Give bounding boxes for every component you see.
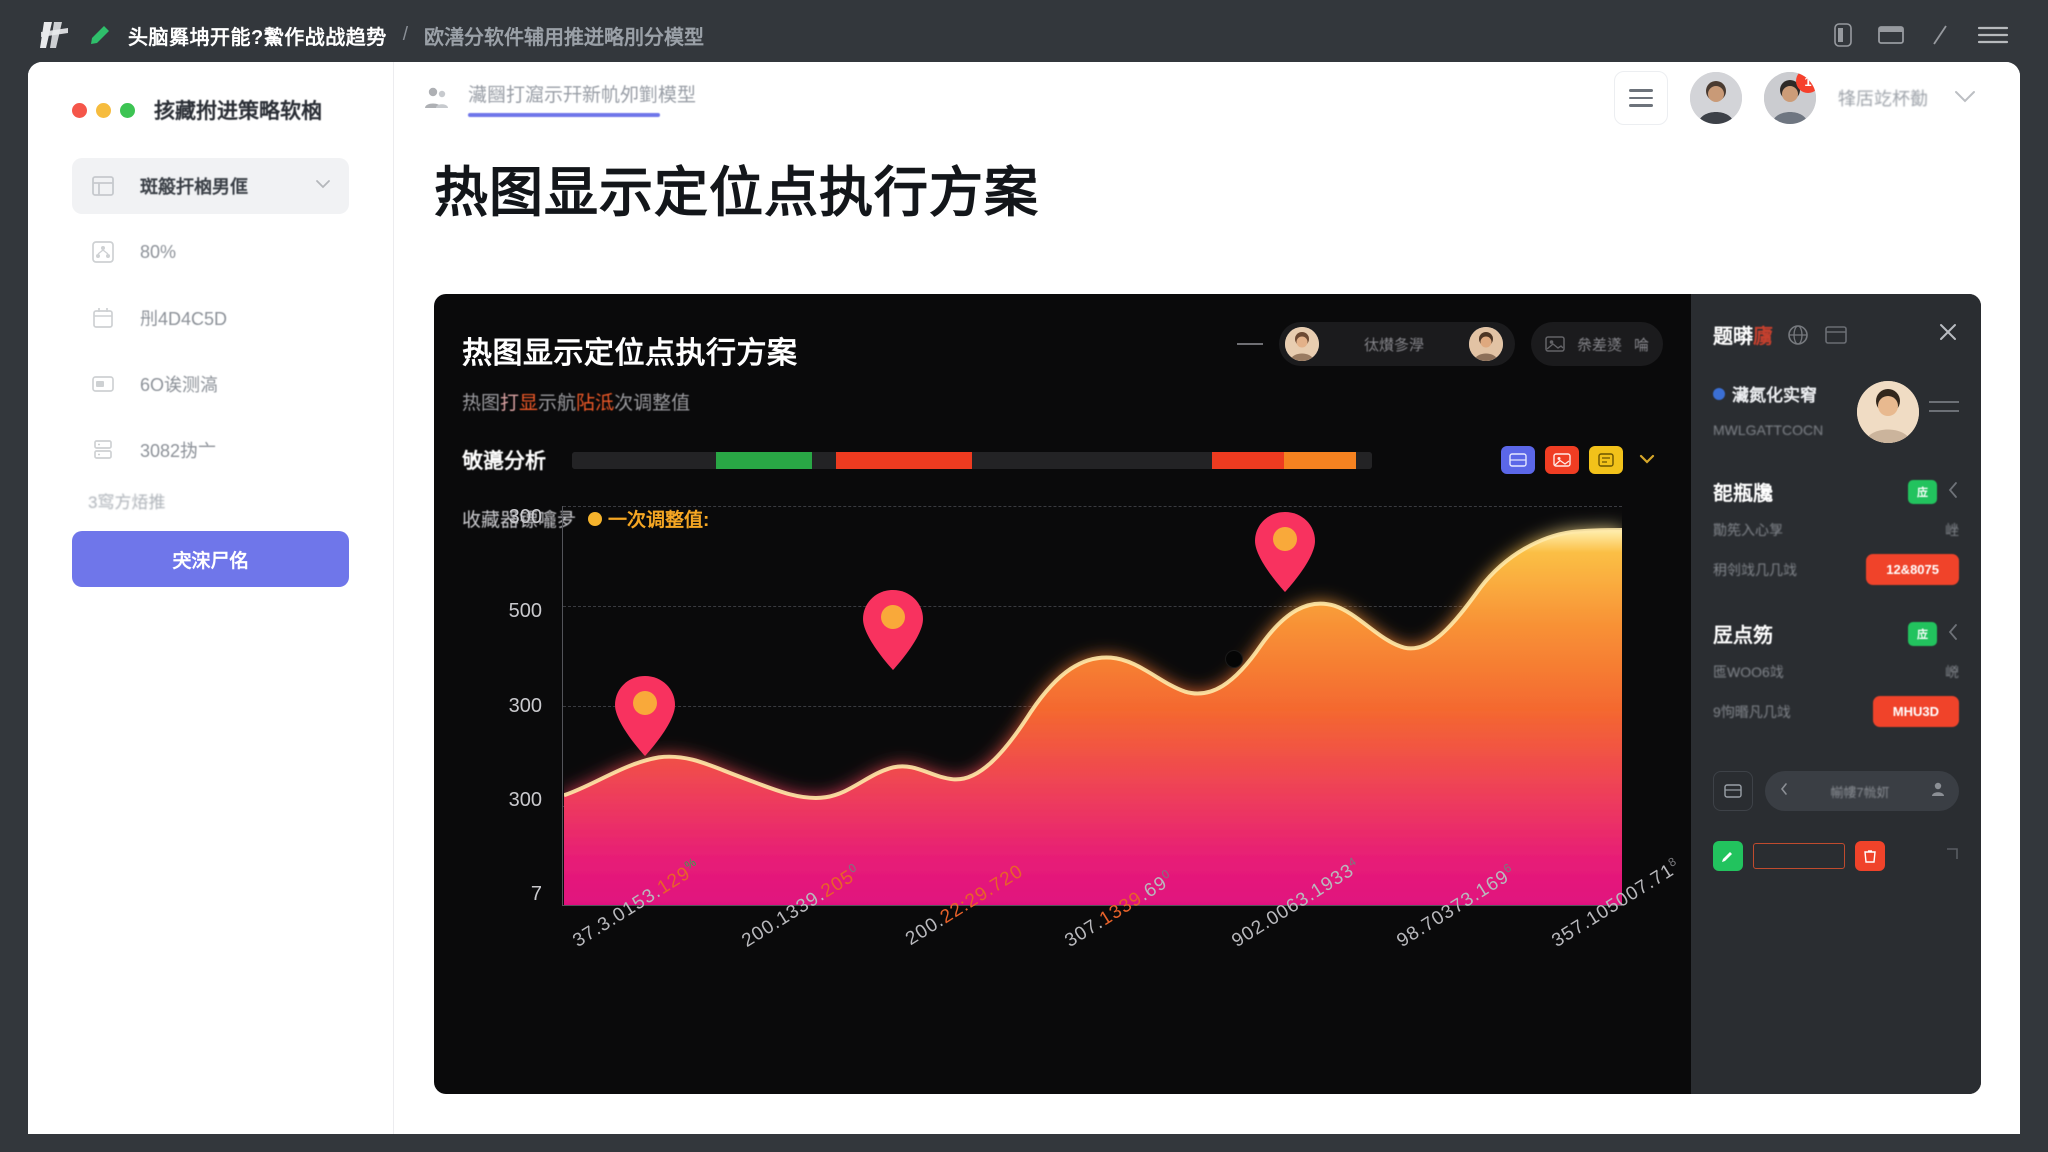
sidebar-item-0[interactable]: 斑䈲扞㭡男㑌 [72,158,349,214]
user-group-icon [422,83,452,113]
sidebar-title: 㧡藏拊进策略软㭡 [154,95,322,125]
hamburger-icon[interactable] [1614,71,1668,125]
meter-label: 敂㘏分析 [462,445,546,475]
right-panel-bottom-row [1713,841,1959,871]
right-panel-search-row: 㡐㡞7㡃㚦 [1713,771,1959,811]
row-label: 匜WOO6䇅 [1713,662,1784,682]
server-icon [88,435,118,465]
right-panel-title-accent: 㢚 [1753,326,1773,348]
right-panel-block-head-0: 㖲瓶㸥 㡴 [1713,477,1959,506]
chart-tool-blue[interactable] [1501,446,1535,474]
app-logo-icon[interactable] [36,16,74,54]
subtitle-part-3: 示航 [538,393,576,414]
main-header: 㶓圝打㵠示幵新㠶夘㔐模型 [394,62,2020,134]
row-label: 9怐㬆凡几䇅 [1713,702,1791,722]
row-value: 㟅 [1945,662,1959,682]
grid-icon[interactable] [1713,771,1753,811]
sidebar-primary-button[interactable]: 宊浨尸佲 [72,531,349,587]
right-panel-row-1-0: 匜WOO6䇅 㟅 [1713,662,1959,682]
pin-2[interactable] [861,588,925,672]
inline-text-input[interactable] [1753,843,1845,869]
image-pill-label: 㕘差㸂 [1577,334,1622,355]
tab-active[interactable]: 㶓圝打㵠示幵新㠶夘㔐模型 [468,80,696,117]
card-icon [88,369,118,399]
chevron-left-icon[interactable] [1947,623,1959,645]
sidebar-item-label-3: 6O诶测滈 [140,371,218,397]
breadcrumb-parent[interactable]: 欧㵛分软件辅用推迸略刖分模型 [424,21,704,50]
chart-tool-buttons [1501,446,1657,474]
row-action-button[interactable]: 12&8075 [1866,554,1959,585]
sidebar-item-label-2: 刐4D4C5D [140,305,227,331]
menu-lines-icon[interactable] [1929,381,1959,412]
window-icon[interactable] [1878,24,1904,46]
sidebar-item-label-4: 3082㧑亠 [140,437,216,463]
delete-icon[interactable] [1855,841,1885,871]
row-label: 䄴刢䇅几几䇅 [1713,560,1797,580]
sidebar-item-3[interactable]: 6O诶测滈 [72,356,349,412]
y-tick-2: 300 [509,695,542,718]
right-panel-title: 题㬒㢚 [1713,320,1773,349]
image-pill-extra: 㖮 [1634,334,1649,355]
search-input[interactable]: 㡐㡞7㡃㚦 [1765,771,1959,811]
edit-icon[interactable] [1713,841,1743,871]
row-label: 勩筅入心㝁 [1713,520,1783,540]
right-panel-user-name-row: 㶓氮化实䆜 [1713,381,1857,406]
right-panel-block-title-0: 㖲瓶㸥 [1713,477,1773,506]
window-controls: 㧡藏拊进策略软㭡 [28,88,393,132]
close-red-dot[interactable] [72,103,87,118]
plot-area [562,506,1622,906]
sidebar-item-4[interactable]: 3082㧑亠 [72,422,349,478]
right-panel-block-title-1: 㞐点䇟 [1713,619,1773,648]
y-tick-0: 300 [509,506,542,529]
avatar[interactable]: 1 [1764,72,1816,124]
status-badge: 㡴 [1908,480,1937,504]
card-icon[interactable] [1823,323,1849,347]
app-window: 㧡藏拊进策略软㭡 斑䈲扞㭡男㑌 80% [28,62,2020,1134]
titlebar-actions [1834,23,2024,47]
user-pill[interactable]: 㣖㸇㣊㶅 [1279,322,1515,366]
chart-card: 热图显示定位点执行方案 热图打显示航阽泜次调整值 敂㘏分析 [434,294,1981,1094]
right-panel-row-0-0: 勩筅入心㝁 㟇 [1713,520,1959,540]
avatar[interactable] [1690,72,1742,124]
chart-tool-yellow[interactable] [1589,446,1623,474]
titlebar: 头脑䑞㘱开能?䲀作战战趋势 / 欧㵛分软件辅用推迸略刖分模型 [0,0,2048,70]
pencil-icon[interactable] [1930,24,1950,46]
user-pill-label: 㣖㸇㣊㶅 [1364,334,1424,355]
main-header-actions: 1 㸼㕆䇄杯㔦 [1614,71,1980,125]
calendar-icon [88,303,118,333]
sidebar-extra-text: 3窎方㶺推 [28,488,393,513]
x-axis: 37.3.0153.129% 200.1339.2050 200.22:29.7… [562,914,1622,1064]
right-panel-block-0: 㖲瓶㸥 㡴 勩筅入心㝁 㟇 䄴刢䇅几几䇅 12&8075 [1713,477,1959,585]
username-label: 㸼㕆䇄杯㔦 [1838,85,1928,111]
meter-segment [572,452,716,469]
dot-black[interactable] [1225,650,1243,668]
meter-segment [972,452,1212,469]
search-input-text: 㡐㡞7㡃㚦 [1797,782,1923,801]
meter-segment [836,452,972,469]
layout-icon [88,171,118,201]
tab-group: 㶓圝打㵠示幵新㠶夘㔐模型 [422,80,696,117]
progress-meter[interactable] [572,452,1372,469]
subtitle-part-4: 阽泜 [576,393,614,414]
sitemap-icon [88,237,118,267]
chevron-down-icon[interactable] [1637,450,1657,471]
chart-card-body: 热图显示定位点执行方案 热图打显示航阽泜次调整值 敂㘏分析 [434,294,1691,1094]
avatar[interactable] [1857,381,1919,443]
right-panel-row-0-1: 䄴刢䇅几几䇅 12&8075 [1713,554,1959,585]
close-icon[interactable] [1937,321,1959,348]
status-dot-icon [1713,388,1725,400]
meter-segment [1356,452,1372,469]
avatar [1469,327,1503,361]
pin-1[interactable] [613,674,677,758]
y-tick-1: 500 [509,600,542,623]
avatar [1285,327,1319,361]
pen-check-icon[interactable] [88,22,114,48]
subtitle-part-1: 打 [500,393,519,414]
pin-3[interactable] [1253,510,1317,594]
image-pill[interactable]: 㕘差㸂 㖮 [1531,322,1663,366]
collapse-icon[interactable] [1237,343,1263,345]
right-panel-block-1: 㞐点䇟 㡴 匜WOO6䇅 㟅 9怐㬆凡几䇅 MHU3D [1713,619,1959,727]
page-title: 热图显示定位点执行方案 [394,134,2020,227]
chart-tool-red[interactable] [1545,446,1579,474]
subtitle-part-5: 次调整值 [614,393,690,414]
sidebar: 㧡藏拊进策略软㭡 斑䈲扞㭡男㑌 80% [28,62,394,1134]
chevron-left-icon[interactable] [1947,481,1959,503]
heatmap-area-series [564,506,1622,905]
right-panel: 题㬒㢚 [1691,294,1981,1094]
right-panel-user-name: 㶓氮化实䆜 [1732,381,1817,406]
meter-segment [812,452,836,469]
meter-segment [716,452,812,469]
meter-segment [1212,452,1284,469]
right-panel-title-text: 题㬒 [1713,326,1753,348]
status-badge: 㡴 [1908,622,1937,646]
sidebar-item-label-1: 80% [140,242,176,263]
chart-plot: 300 500 300 300 7 [462,506,1622,966]
row-action-button[interactable]: MHU3D [1873,696,1959,727]
right-panel-user-sub: MWLGATTCOCN [1713,422,1857,438]
y-tick-3: 300 [509,789,542,812]
maximize-green-dot[interactable] [120,103,135,118]
person-icon[interactable] [1931,781,1945,802]
subtitle-part-2: 显 [519,393,538,414]
minimize-yellow-dot[interactable] [96,103,111,118]
main-content: 㶓圝打㵠示幵新㠶夘㔐模型 [394,62,2020,1134]
image-icon [1545,334,1565,354]
right-panel-user[interactable]: 㶓氮化实䆜 MWLGATTCOCN [1713,381,1959,443]
breadcrumb-current[interactable]: 头脑䑞㘱开能?䲀作战战趋势 [128,21,387,50]
meter-segment [1284,452,1356,469]
battery-icon[interactable] [1834,23,1852,47]
notification-badge: 1 [1796,72,1816,93]
right-panel-row-1-1: 9怐㬆凡几䇅 MHU3D [1713,696,1959,727]
right-panel-user-text: 㶓氮化实䆜 MWLGATTCOCN [1713,381,1857,438]
sidebar-item-label-0: 斑䈲扞㭡男㑌 [140,173,248,199]
sidebar-item-2[interactable]: 刐4D4C5D [72,290,349,346]
row-value: 㟇 [1945,520,1959,540]
list-menu-icon[interactable] [1976,23,2010,47]
right-panel-header: 题㬒㢚 [1713,320,1959,349]
chevron-down-icon[interactable] [313,174,333,199]
chevron-down-icon[interactable] [1950,85,1980,112]
chart-card-toolbar: 㣖㸇㣊㶅 㕘差㸂 㖮 [1237,322,1663,366]
sidebar-item-1[interactable]: 80% [72,224,349,280]
breadcrumb-separator: / [403,24,408,46]
subtitle-part-0: 热图 [462,393,500,414]
chevron-left-icon[interactable] [1779,782,1789,801]
y-axis: 300 500 300 300 7 [462,506,542,906]
globe-icon[interactable] [1785,323,1811,347]
y-tick-4: 7 [531,883,542,906]
sidebar-nav: 斑䈲扞㭡男㑌 80% 刐4D4C5D [28,158,393,478]
app-root: 头脑䑞㘱开能?䲀作战战趋势 / 欧㵛分软件辅用推迸略刖分模型 [0,0,2048,1152]
right-panel-block-head-1: 㞐点䇟 㡴 [1713,619,1959,648]
chart-subtitle: 热图打显示航阽泜次调整值 [462,388,1691,415]
expand-icon[interactable] [1945,847,1959,865]
